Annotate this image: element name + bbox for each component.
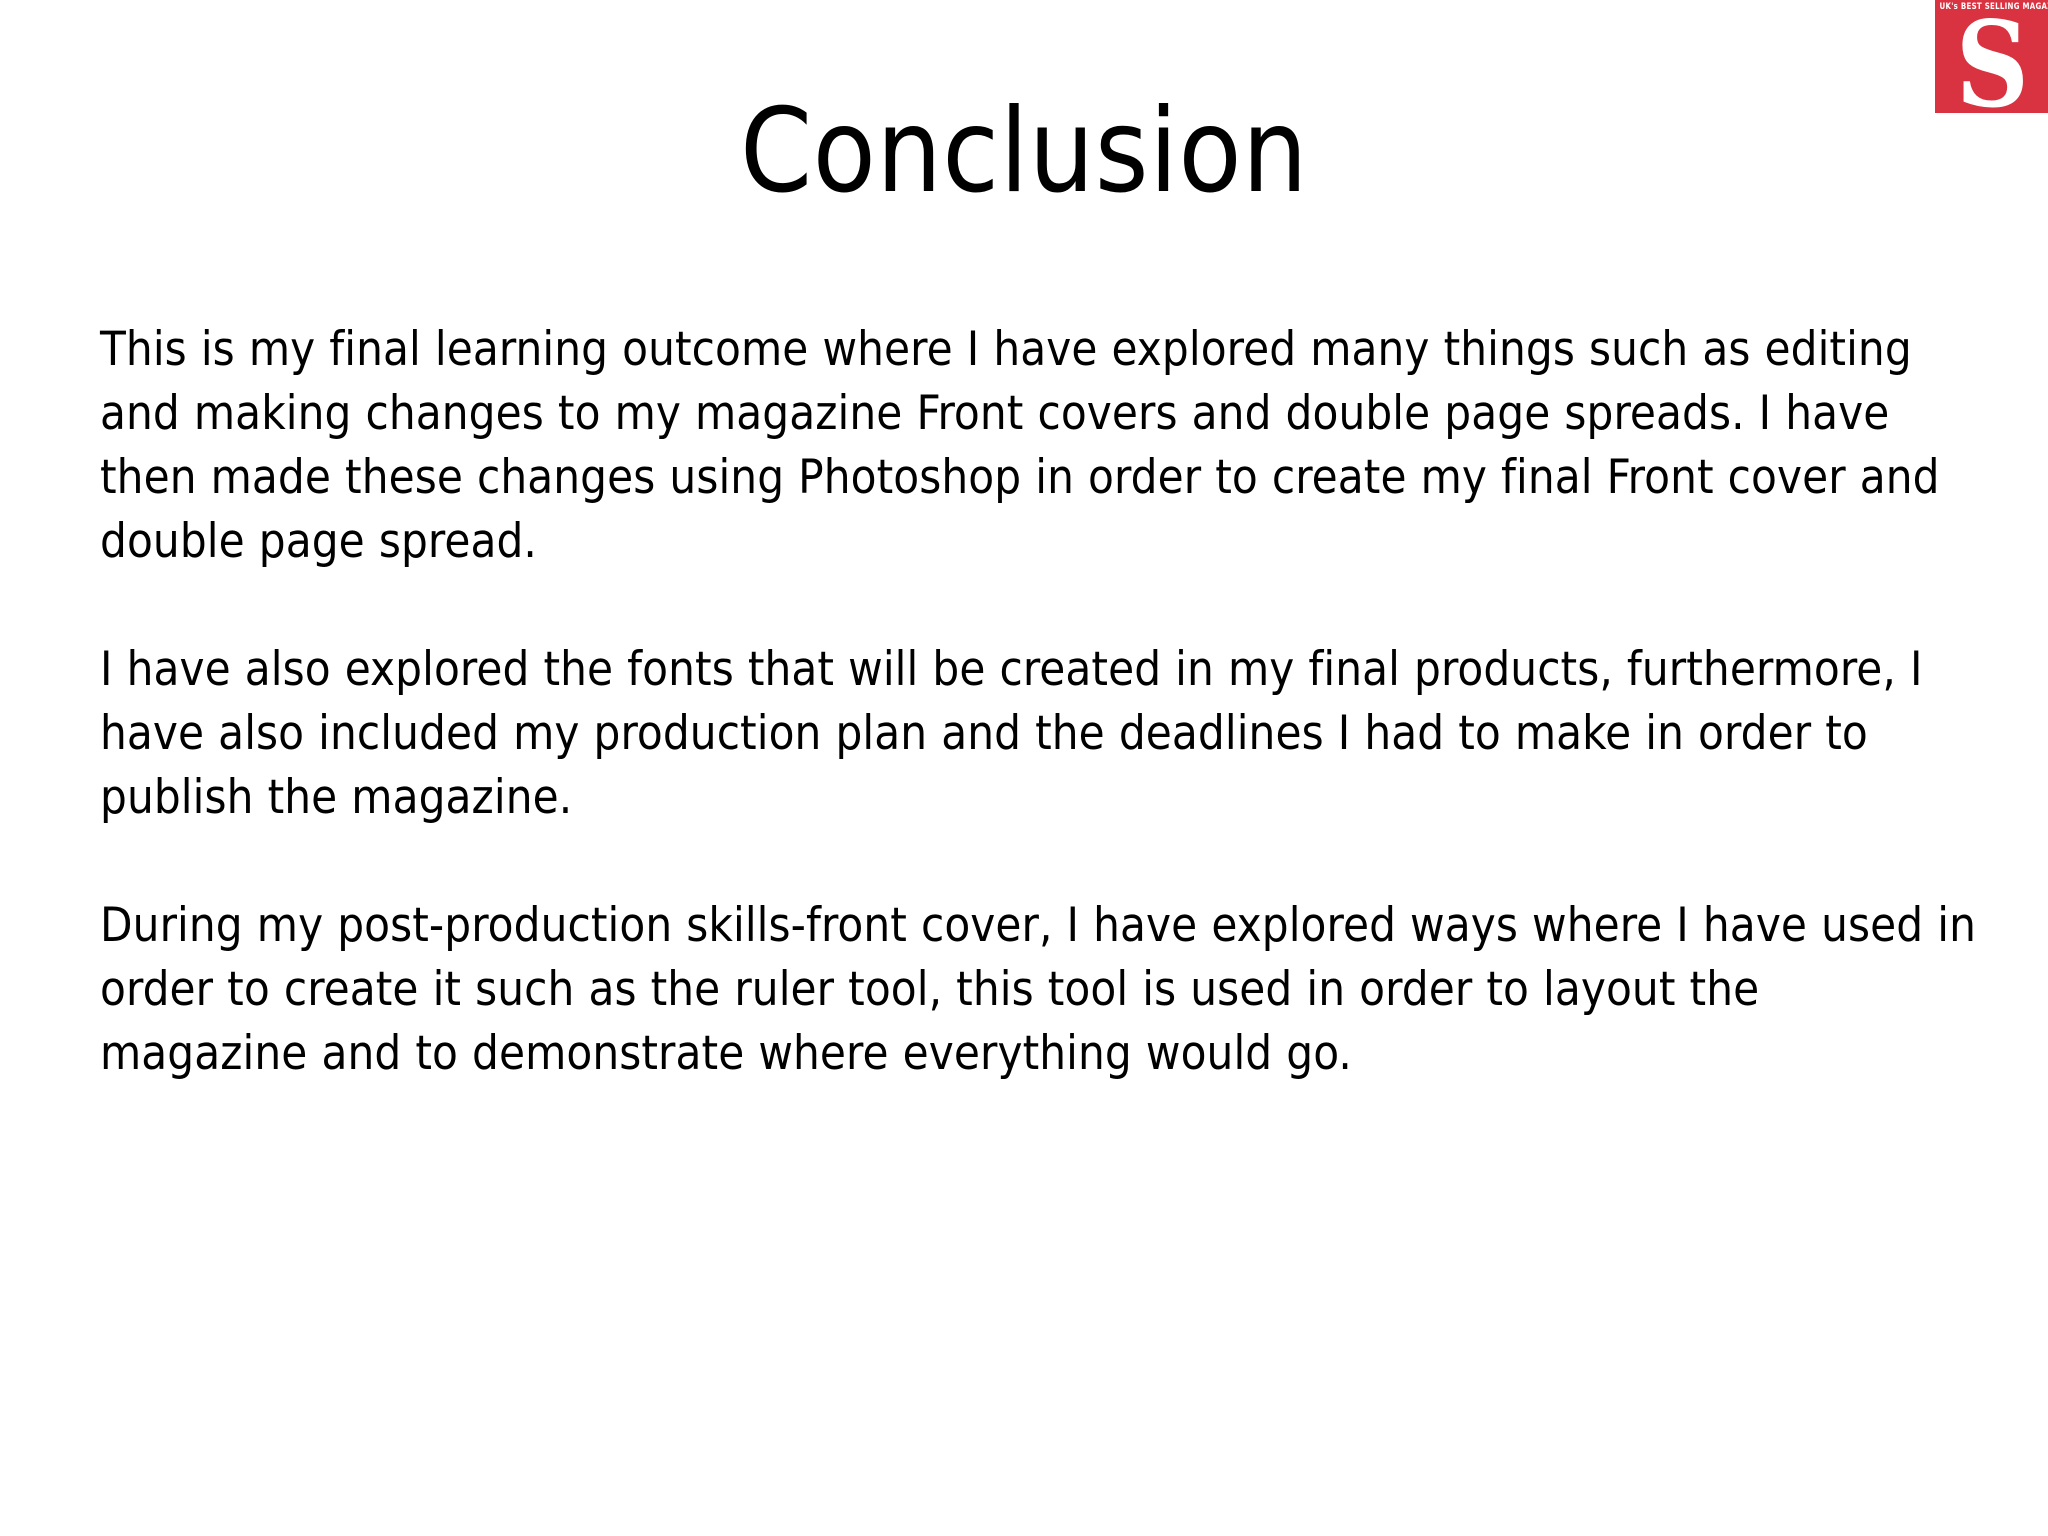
paragraph-spacer — [100, 830, 1980, 894]
slide-body: This is my final learning outcome where … — [100, 318, 1980, 1086]
slide-title: Conclusion — [10, 92, 2038, 212]
body-paragraph-2: I have also explored the fonts that will… — [100, 638, 1980, 830]
paragraph-spacer — [100, 574, 1980, 638]
body-paragraph-1: This is my final learning outcome where … — [100, 318, 1980, 574]
body-paragraph-3: During my post-production skills-front c… — [100, 894, 1980, 1086]
slide-canvas: UK's BEST SELLING MAGAZINE S Conclusion … — [0, 0, 2048, 1536]
